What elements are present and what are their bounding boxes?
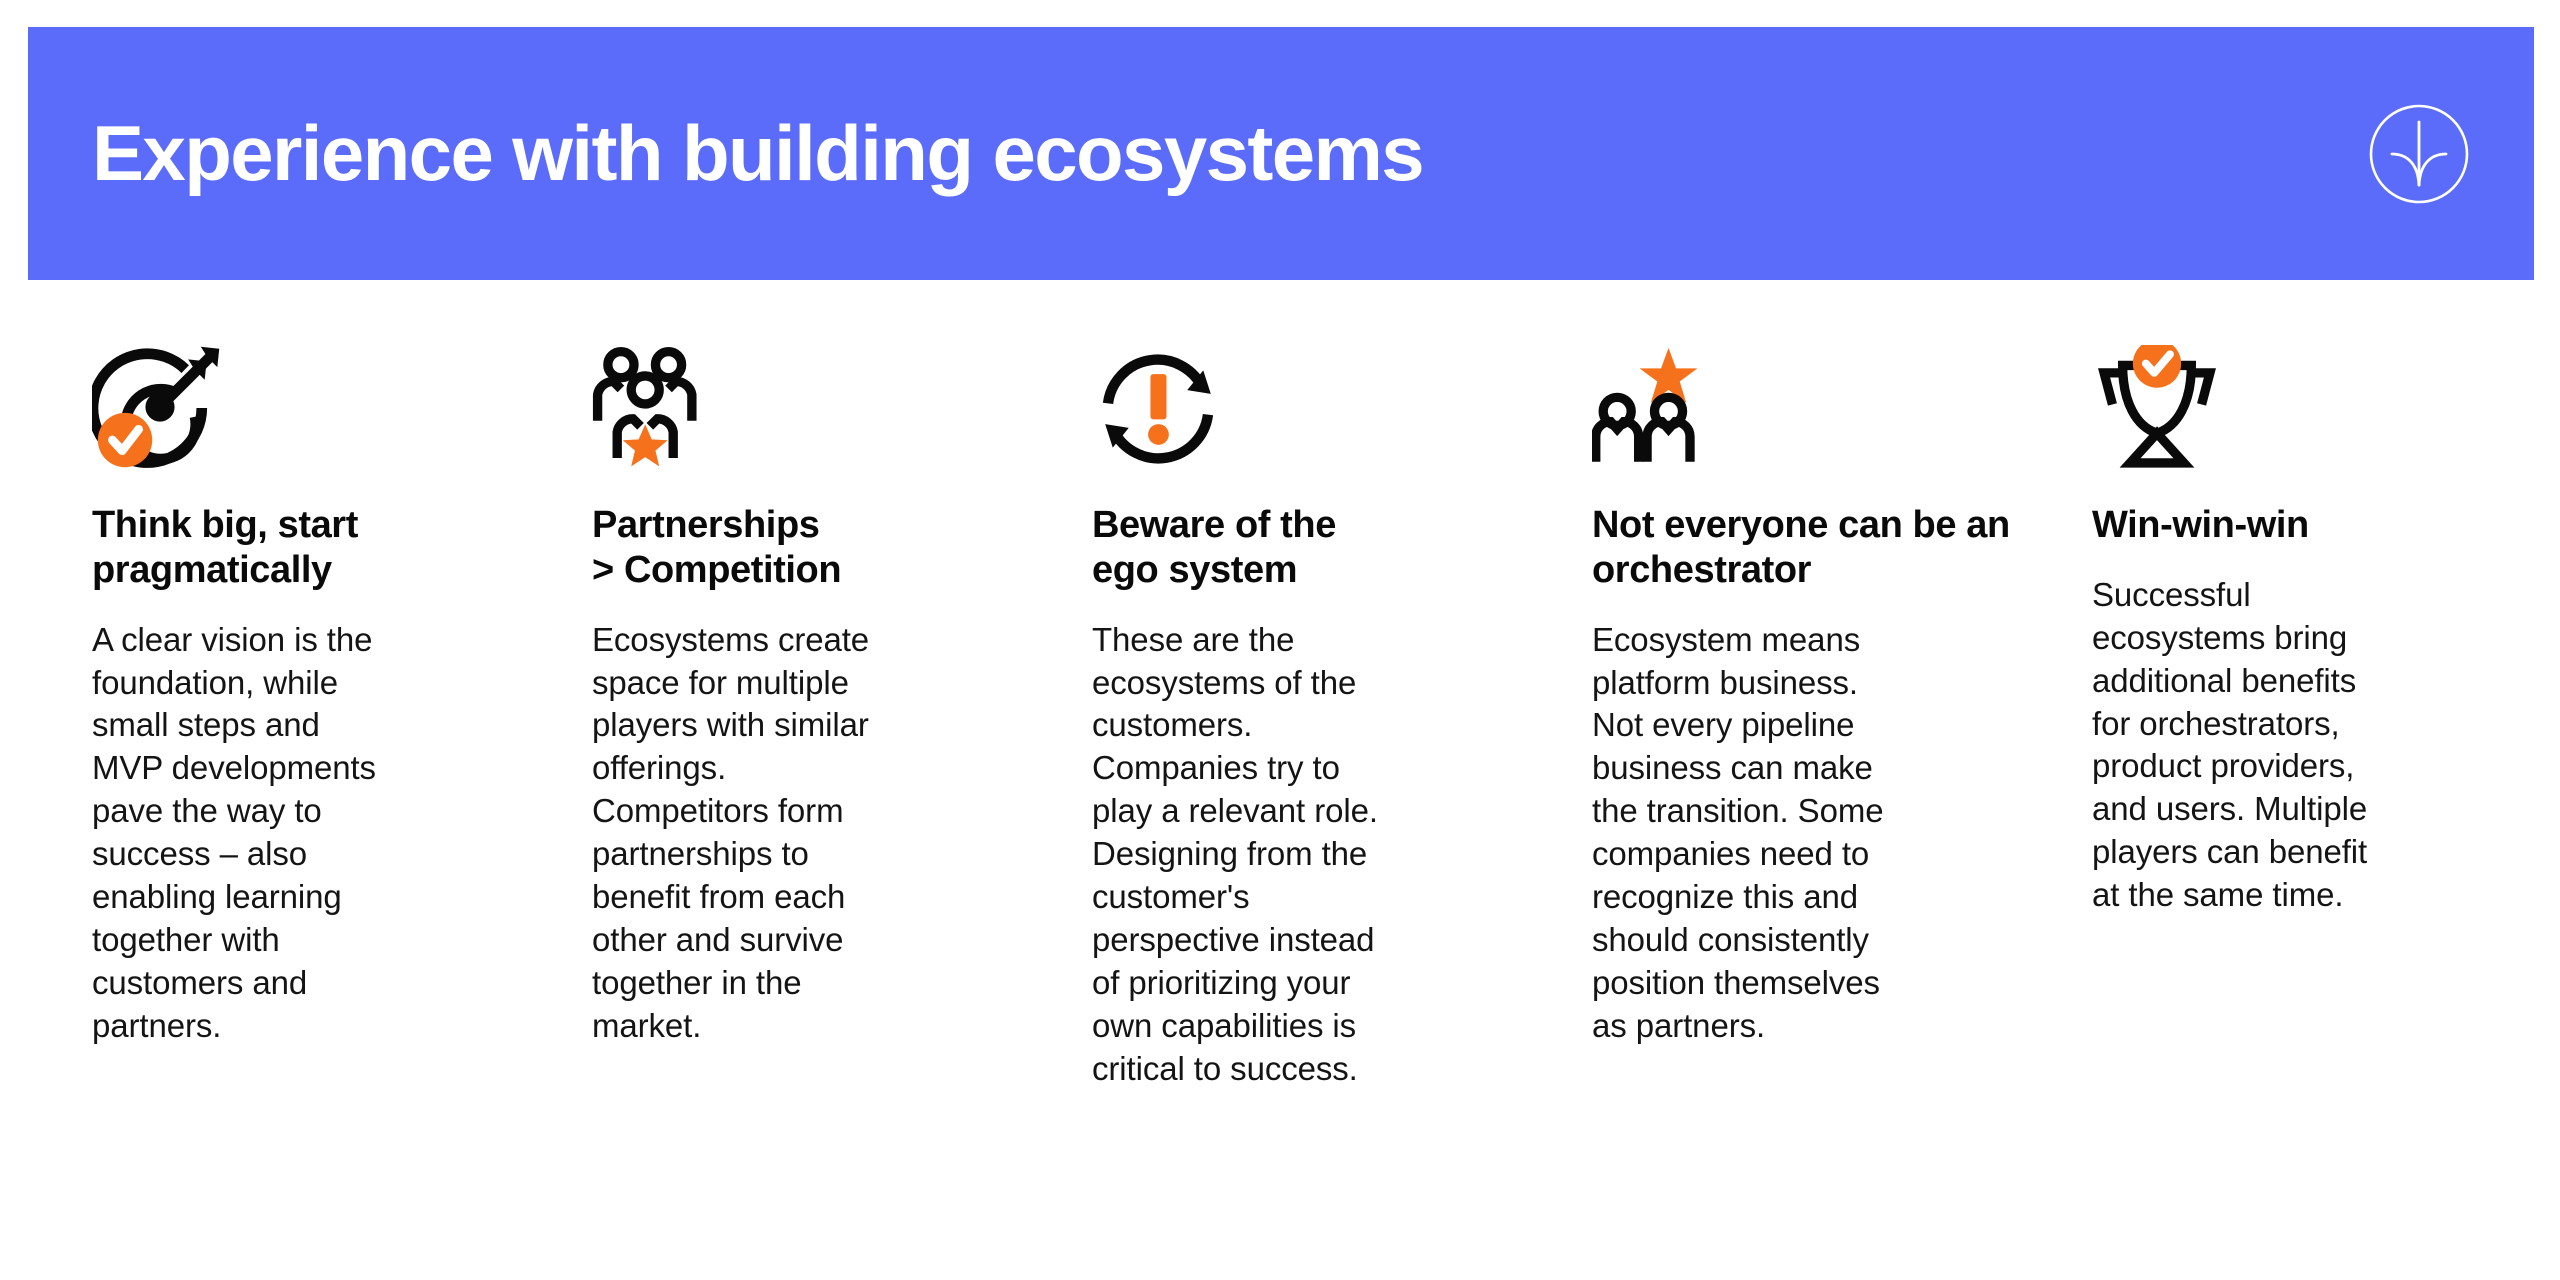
header-banner: Experience with building ecosystems — [28, 27, 2534, 280]
slide-root: Experience with building ecosystems — [0, 0, 2560, 1280]
feature-column: Not everyone can be an orchestrator Ecos… — [1592, 325, 2092, 1090]
two-people-star-icon — [1592, 325, 2022, 475]
feature-column: Think big, start pragmatically A clear v… — [92, 325, 592, 1090]
column-title: Beware of the ego system — [1092, 503, 1522, 593]
column-title: Win-win-win — [2092, 503, 2522, 548]
page-title: Experience with building ecosystems — [92, 113, 1423, 195]
column-body: These are the ecosystems of the customer… — [1092, 619, 1392, 1091]
target-dartboard-check-icon — [92, 325, 522, 475]
trophy-check-icon — [2092, 325, 2522, 475]
feature-column: Win-win-win Successful ecosystems bring … — [2092, 325, 2560, 1090]
column-body: Successful ecosystems bring additional b… — [2092, 574, 2402, 917]
feature-column: Partnerships > Competition Ecosystems cr… — [592, 325, 1092, 1090]
column-body: Ecosystems create space for multiple pla… — [592, 619, 902, 1048]
people-group-star-icon — [592, 325, 1022, 475]
column-title: Not everyone can be an orchestrator — [1592, 503, 2022, 593]
column-title: Partnerships > Competition — [592, 503, 1022, 593]
column-title: Think big, start pragmatically — [92, 503, 522, 593]
circular-arrows-exclamation-icon — [1092, 325, 1522, 475]
circle-down-arrow-icon[interactable] — [2368, 103, 2470, 205]
feature-column: Beware of the ego system These are the e… — [1092, 325, 1592, 1090]
feature-columns: Think big, start pragmatically A clear v… — [92, 325, 2512, 1090]
column-body: Ecosystem means platform business. Not e… — [1592, 619, 1892, 1048]
column-body: A clear vision is the foundation, while … — [92, 619, 392, 1048]
